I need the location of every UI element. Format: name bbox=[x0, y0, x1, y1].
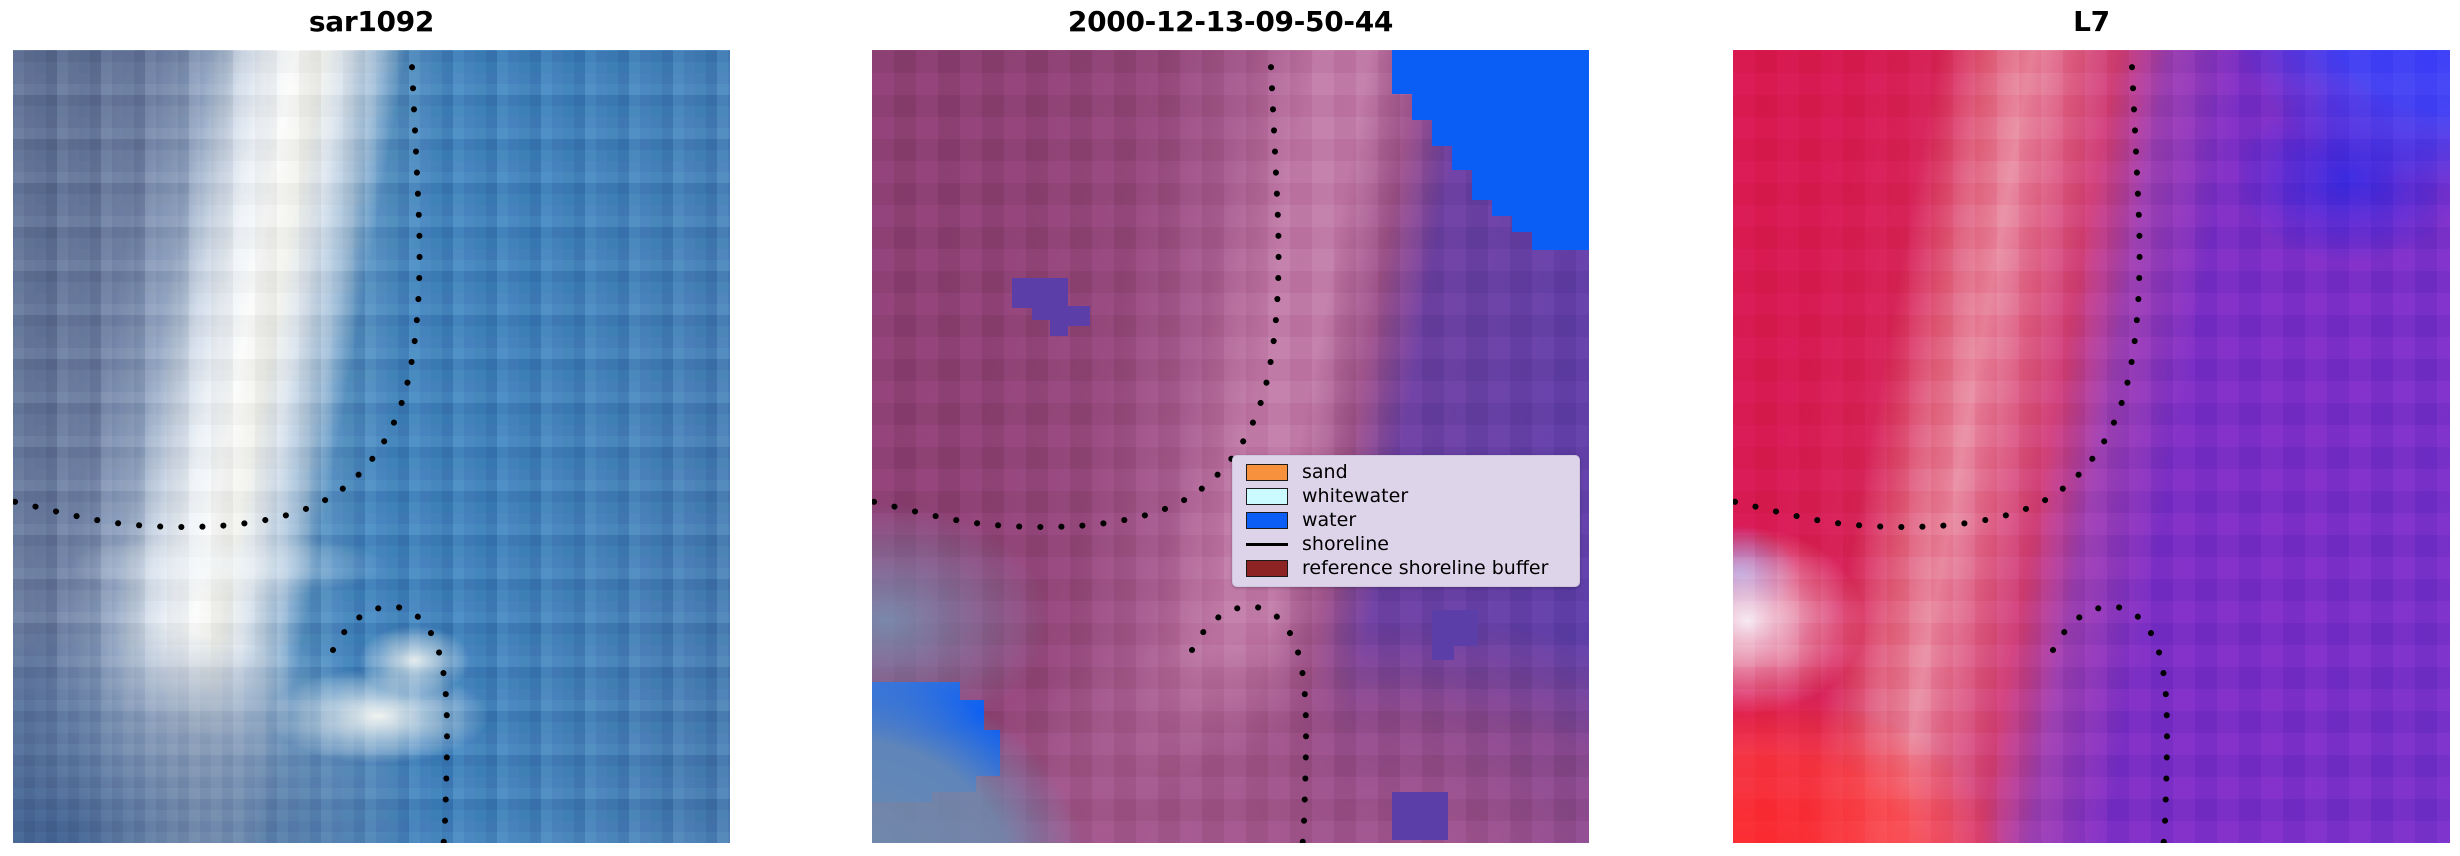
legend-swatch-shoreline bbox=[1246, 543, 1288, 546]
legend-item-whitewater: whitewater bbox=[1233, 484, 1579, 508]
panel-title-3: L7 bbox=[1733, 4, 2450, 40]
legend-label-whitewater: whitewater bbox=[1302, 484, 1408, 508]
legend-swatch-water bbox=[1246, 512, 1288, 529]
panel-title-2: 2000-12-13-09-50-44 bbox=[872, 4, 1589, 40]
raster-classification bbox=[872, 50, 1589, 843]
fc-pixel-noise bbox=[1733, 50, 2450, 843]
panel-title-1: sar1092 bbox=[13, 4, 730, 40]
legend-label-water: water bbox=[1302, 508, 1356, 532]
raster-falsecolour bbox=[1733, 50, 2450, 843]
image-panel-falsecolour bbox=[1733, 50, 2450, 843]
class-unclassified-lowerleft bbox=[872, 50, 1589, 843]
legend-label-shoreline: shoreline bbox=[1302, 532, 1389, 556]
legend-swatch-sand bbox=[1246, 464, 1288, 481]
image-panel-rgb bbox=[13, 50, 730, 843]
image-panel-classification bbox=[872, 50, 1589, 843]
legend-swatch-reference-shoreline-buffer bbox=[1246, 560, 1288, 577]
figure-canvas: sar1092 2000-12-13-09-50-44 L7 bbox=[0, 0, 2460, 856]
legend-item-shoreline: shoreline bbox=[1233, 532, 1579, 556]
legend-swatch-whitewater bbox=[1246, 488, 1288, 505]
legend-label-reference-shoreline-buffer: reference shoreline buffer bbox=[1302, 556, 1548, 580]
raster-rgb bbox=[13, 50, 730, 843]
legend-item-reference-shoreline-buffer: reference shoreline buffer bbox=[1233, 556, 1579, 580]
rgb-pixel-noise bbox=[13, 50, 730, 843]
legend-box: sand whitewater water shoreline referenc… bbox=[1232, 455, 1580, 587]
legend-item-sand: sand bbox=[1233, 460, 1579, 484]
legend-label-sand: sand bbox=[1302, 460, 1348, 484]
legend-item-water: water bbox=[1233, 508, 1579, 532]
